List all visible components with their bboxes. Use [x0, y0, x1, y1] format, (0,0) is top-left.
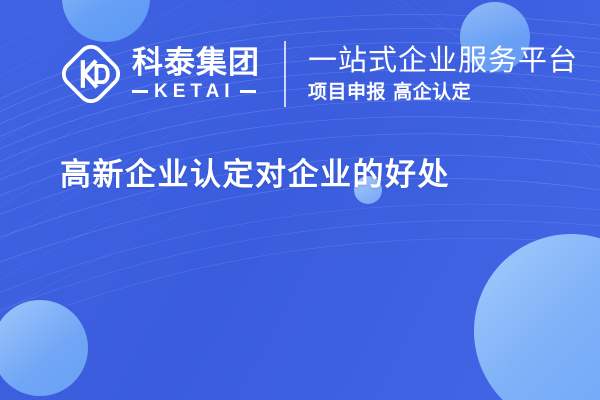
- dash-left-icon: [132, 90, 148, 93]
- promo-banner: 科泰集团 KETAI 一站式企业服务平台 项目申报 高企认定 高新企业认定对企业…: [0, 0, 600, 400]
- decorative-circle-bottom-right: [474, 234, 600, 400]
- ketai-logo-icon: [62, 45, 120, 103]
- page-title: 高新企业认定对企业的好处: [60, 156, 450, 195]
- tagline-sub: 项目申报 高企认定: [308, 81, 578, 104]
- brand-name-en: KETAI: [154, 82, 235, 101]
- brand-name-en-row: KETAI: [132, 82, 260, 101]
- decorative-circle-bottom-left: [0, 300, 88, 396]
- brand-wordmark: 科泰集团 KETAI: [132, 47, 260, 101]
- vertical-divider: [284, 41, 286, 107]
- banner-header: 科泰集团 KETAI 一站式企业服务平台 项目申报 高企认定: [0, 34, 600, 114]
- tagline-main: 一站式企业服务平台: [308, 44, 578, 76]
- dash-right-icon: [240, 90, 256, 93]
- brand-logo[interactable]: 科泰集团 KETAI: [62, 45, 260, 103]
- brand-name-cn: 科泰集团: [132, 47, 260, 79]
- tagline-block: 一站式企业服务平台 项目申报 高企认定: [308, 44, 578, 104]
